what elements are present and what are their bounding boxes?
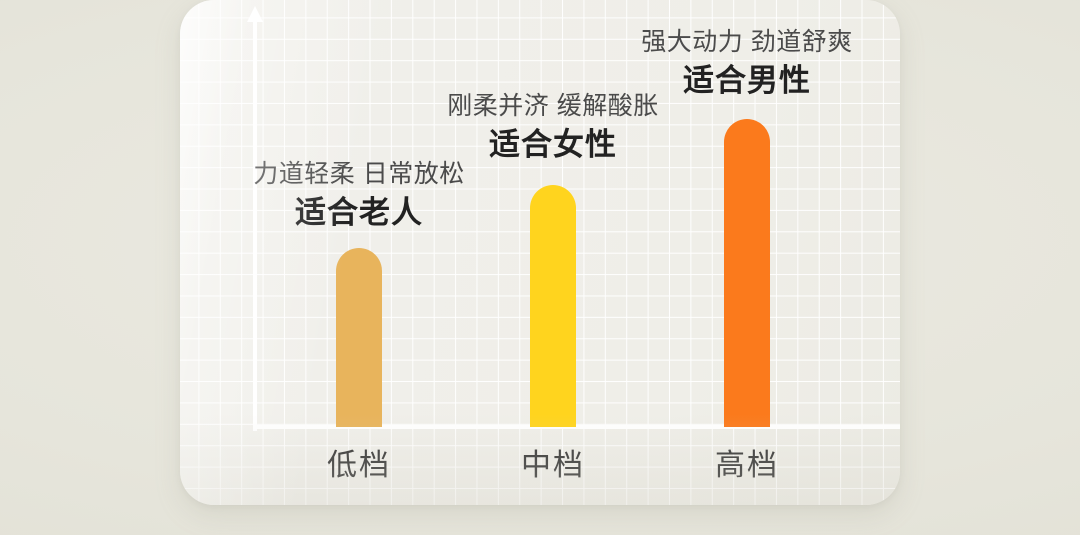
annotation-high: 强大动力 劲道舒爽 适合男性	[607, 28, 887, 99]
annotation-low: 力道轻柔 日常放松 适合老人	[219, 160, 499, 231]
x-tick-label-mid: 中档	[493, 440, 613, 484]
bar-high[interactable]	[724, 119, 770, 427]
page-root: 力道轻柔 日常放松 适合老人 刚柔并济 缓解酸胀 适合女性 强大动力 劲道舒爽 …	[0, 0, 1080, 535]
x-tick-label-low: 低档	[299, 440, 419, 484]
annotation-mid: 刚柔并济 缓解酸胀 适合女性	[413, 92, 693, 163]
chart-card: 力道轻柔 日常放松 适合老人 刚柔并济 缓解酸胀 适合女性 强大动力 劲道舒爽 …	[180, 0, 900, 505]
arrow-up-icon	[247, 6, 263, 22]
bar-chart-plot: 力道轻柔 日常放松 适合老人 刚柔并济 缓解酸胀 适合女性 强大动力 劲道舒爽 …	[180, 0, 900, 505]
annotation-low-subtitle: 力道轻柔 日常放松	[219, 160, 499, 190]
annotation-mid-title: 适合女性	[413, 127, 693, 164]
bar-mid[interactable]	[530, 185, 576, 427]
annotation-low-title: 适合老人	[219, 195, 499, 232]
annotation-high-subtitle: 强大动力 劲道舒爽	[607, 28, 887, 58]
bar-low[interactable]	[336, 248, 382, 427]
annotation-high-title: 适合男性	[607, 63, 887, 100]
x-tick-label-high: 高档	[687, 440, 807, 484]
